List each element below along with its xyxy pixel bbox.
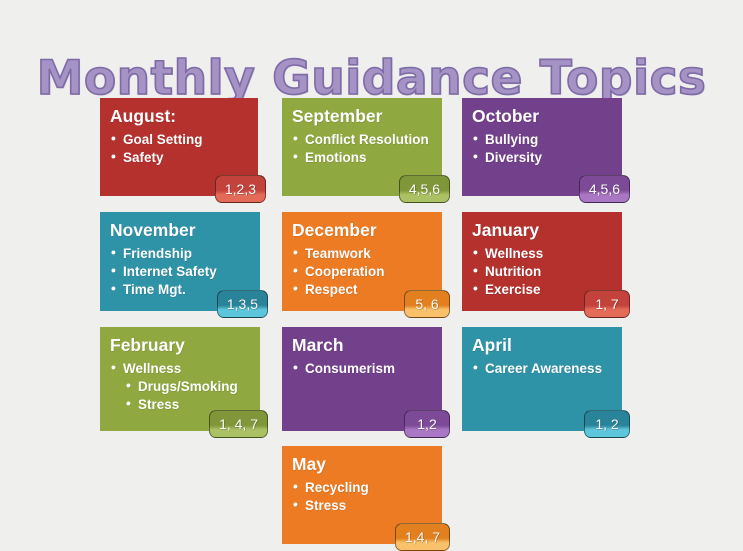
month-name: October bbox=[472, 107, 614, 127]
month-card-may[interactable]: MayRecyclingStress1,4, 7 bbox=[282, 446, 442, 544]
topic-list: WellnessDrugs/SmokingStress bbox=[110, 360, 252, 413]
topic-item: Teamwork bbox=[292, 245, 434, 262]
month-card-december[interactable]: DecemberTeamworkCooperationRespect5, 6 bbox=[282, 212, 442, 311]
month-name: March bbox=[292, 336, 434, 356]
topic-item: Safety bbox=[110, 149, 250, 166]
month-name: January bbox=[472, 221, 614, 241]
standards-badge: 1,2 bbox=[404, 410, 450, 438]
standards-badge: 1, 4, 7 bbox=[209, 410, 268, 438]
monthly-topic-card-grid: August:Goal SettingSafety1,2,3SeptemberC… bbox=[0, 0, 743, 544]
topic-item: Nutrition bbox=[472, 263, 614, 280]
topic-item: Cooperation bbox=[292, 263, 434, 280]
topic-item: Wellness bbox=[472, 245, 614, 262]
topic-item: Emotions bbox=[292, 149, 434, 166]
month-card-october[interactable]: OctoberBullyingDiversity4,5,6 bbox=[462, 98, 622, 196]
month-card-august[interactable]: August:Goal SettingSafety1,2,3 bbox=[100, 98, 258, 196]
topic-item: Bullying bbox=[472, 131, 614, 148]
topic-item: Diversity bbox=[472, 149, 614, 166]
month-card-september[interactable]: SeptemberConflict ResolutionEmotions4,5,… bbox=[282, 98, 442, 196]
standards-badge: 5, 6 bbox=[404, 290, 450, 318]
month-name: August: bbox=[110, 107, 250, 127]
topic-item: Internet Safety bbox=[110, 263, 252, 280]
month-name: April bbox=[472, 336, 614, 356]
topic-item: Drugs/Smoking bbox=[110, 378, 252, 395]
topic-item: Conflict Resolution bbox=[292, 131, 434, 148]
topic-item: Recycling bbox=[292, 479, 434, 496]
month-name: September bbox=[292, 107, 434, 127]
topic-item: Goal Setting bbox=[110, 131, 250, 148]
month-card-january[interactable]: JanuaryWellnessNutritionExercise1, 7 bbox=[462, 212, 622, 311]
topic-list: BullyingDiversity bbox=[472, 131, 614, 166]
topic-list: Career Awareness bbox=[472, 360, 614, 377]
standards-badge: 1,3,5 bbox=[217, 290, 268, 318]
month-card-march[interactable]: MarchConsumerism1,2 bbox=[282, 327, 442, 431]
topic-item: Career Awareness bbox=[472, 360, 614, 377]
topic-list: Consumerism bbox=[292, 360, 434, 377]
topic-item: Stress bbox=[292, 497, 434, 514]
standards-badge: 4,5,6 bbox=[399, 175, 450, 203]
standards-badge: 4,5,6 bbox=[579, 175, 630, 203]
topic-list: RecyclingStress bbox=[292, 479, 434, 514]
month-name: November bbox=[110, 221, 252, 241]
month-name: December bbox=[292, 221, 434, 241]
month-card-april[interactable]: AprilCareer Awareness1, 2 bbox=[462, 327, 622, 431]
standards-badge: 1, 2 bbox=[584, 410, 630, 438]
month-card-november[interactable]: NovemberFriendshipInternet SafetyTime Mg… bbox=[100, 212, 260, 311]
month-name: May bbox=[292, 455, 434, 475]
standards-badge: 1, 7 bbox=[584, 290, 630, 318]
topic-item: Wellness bbox=[110, 360, 252, 377]
topic-list: Conflict ResolutionEmotions bbox=[292, 131, 434, 166]
topic-item: Friendship bbox=[110, 245, 252, 262]
standards-badge: 1,2,3 bbox=[215, 175, 266, 203]
topic-item: Consumerism bbox=[292, 360, 434, 377]
month-name: February bbox=[110, 336, 252, 356]
month-card-february[interactable]: FebruaryWellnessDrugs/SmokingStress1, 4,… bbox=[100, 327, 260, 431]
topic-list: Goal SettingSafety bbox=[110, 131, 250, 166]
standards-badge: 1,4, 7 bbox=[395, 523, 450, 551]
